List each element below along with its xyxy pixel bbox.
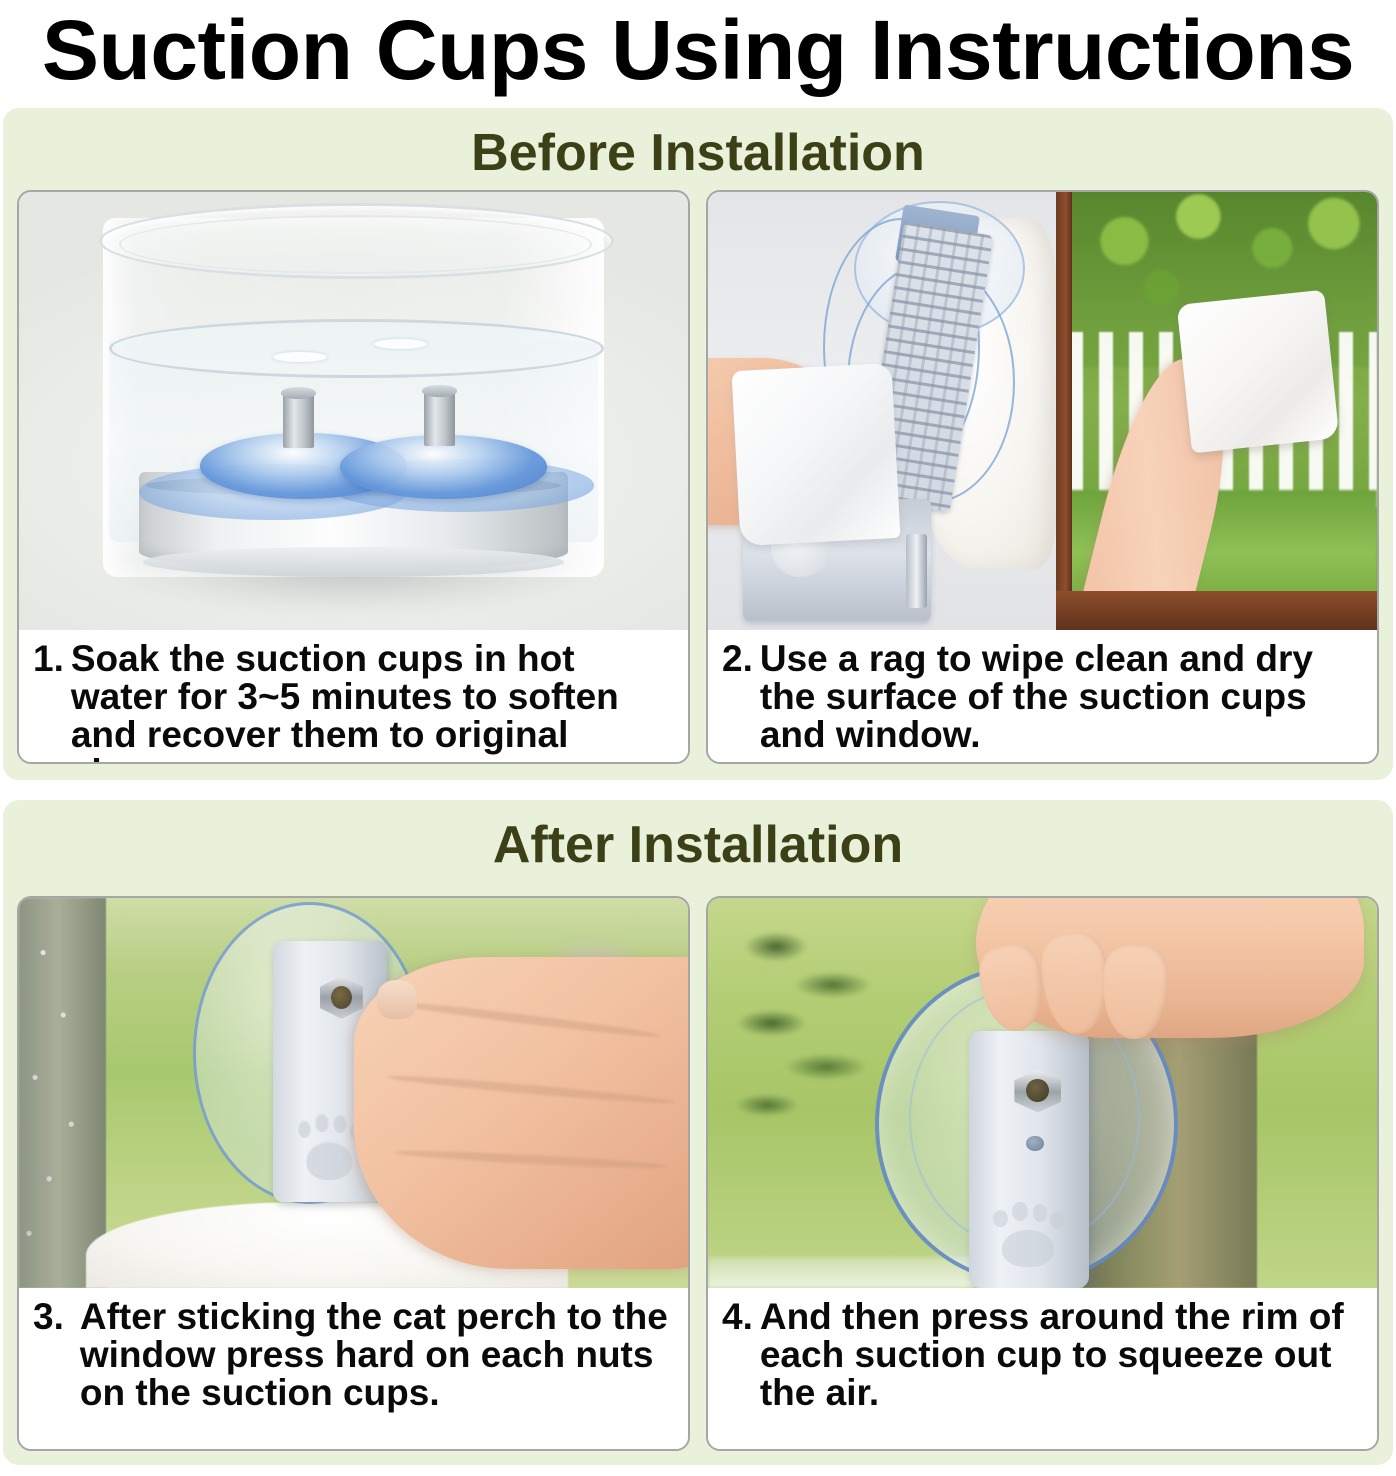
- step-4-text: And then press around the rim of each su…: [760, 1298, 1365, 1412]
- step-4-photo-pressing-cup-rim: [708, 898, 1377, 1288]
- paw-toe-4: [1050, 1212, 1064, 1229]
- step-4-caption: 4. And then press around the rim of each…: [708, 1288, 1377, 1449]
- suction-cup-bolt-a: [283, 391, 314, 448]
- step-1-photo-suction-cups-soaking: [19, 192, 688, 630]
- step-card-row-before: 1. Soak the suction cups in hot water fo…: [17, 190, 1379, 764]
- step-1-text: Soak the suction cups in hot water for 3…: [71, 640, 676, 764]
- step-card-1: 1. Soak the suction cups in hot water fo…: [17, 190, 690, 764]
- step-2-number: 2.: [722, 640, 753, 678]
- paw-print-icon: [992, 1202, 1066, 1268]
- paw-pad: [306, 1141, 353, 1180]
- step-2-text: Use a rag to wipe clean and dry the surf…: [760, 640, 1365, 754]
- step-4-number: 4.: [722, 1298, 753, 1336]
- paw-toe-3: [333, 1114, 346, 1133]
- step-1-caption: 1. Soak the suction cups in hot water fo…: [19, 630, 688, 764]
- paw-toe-1: [298, 1120, 311, 1138]
- white-rag-on-window: [1177, 290, 1339, 454]
- window-frame-bottom: [1056, 591, 1377, 630]
- paw-pad: [1002, 1230, 1054, 1267]
- suction-cup-bolt-cap-a: [281, 387, 316, 398]
- step-3-photo-pressing-nut: [19, 898, 688, 1288]
- step-2-photo-left-wiping-bracket: [708, 192, 1056, 630]
- page-title: Suction Cups Using Instructions: [0, 2, 1396, 98]
- step-2-photo-wiping-cups-and-window: [708, 192, 1377, 630]
- white-rag-on-bracket: [731, 363, 900, 546]
- section-heading-after: After Installation: [3, 816, 1393, 874]
- paw-toe-3: [1033, 1204, 1048, 1222]
- water-surface: [109, 319, 603, 378]
- instruction-infographic: Suction Cups Using Instructions Before I…: [0, 0, 1396, 1476]
- step-card-2: 2. Use a rag to wipe clean and dry the s…: [706, 190, 1379, 764]
- glass-rim-inner: [119, 215, 591, 274]
- suction-cup-bolt-b: [424, 389, 455, 446]
- fingernail: [377, 980, 417, 1019]
- step-2-caption: 2. Use a rag to wipe clean and dry the s…: [708, 630, 1377, 762]
- blurred-foreground: [708, 1257, 976, 1288]
- step-3-number: 3.: [33, 1298, 64, 1336]
- step-2-photo-right-wiping-window: [1056, 192, 1377, 630]
- section-after-installation: After Installation: [3, 800, 1393, 1465]
- metal-clip: [906, 534, 927, 608]
- paw-toe-2: [315, 1113, 328, 1133]
- window-frame-left: [1056, 192, 1072, 630]
- step-3-caption: 3. After sticking the cat perch to the w…: [19, 1288, 688, 1449]
- step-3-text: After sticking the cat perch to the wind…: [80, 1298, 676, 1412]
- step-card-row-after: 3. After sticking the cat perch to the w…: [17, 896, 1379, 1451]
- hex-nut-screw: [331, 986, 352, 1009]
- section-heading-before: Before Installation: [3, 124, 1393, 182]
- suction-cup-bolt-cap-b: [422, 385, 457, 396]
- section-before-installation: Before Installation: [3, 108, 1393, 780]
- step-1-number: 1.: [33, 640, 64, 678]
- paw-toe-1: [993, 1210, 1008, 1227]
- paw-toe-2: [1012, 1202, 1027, 1221]
- step-card-4: 4. And then press around the rim of each…: [706, 896, 1379, 1451]
- step-card-3: 3. After sticking the cat perch to the w…: [17, 896, 690, 1451]
